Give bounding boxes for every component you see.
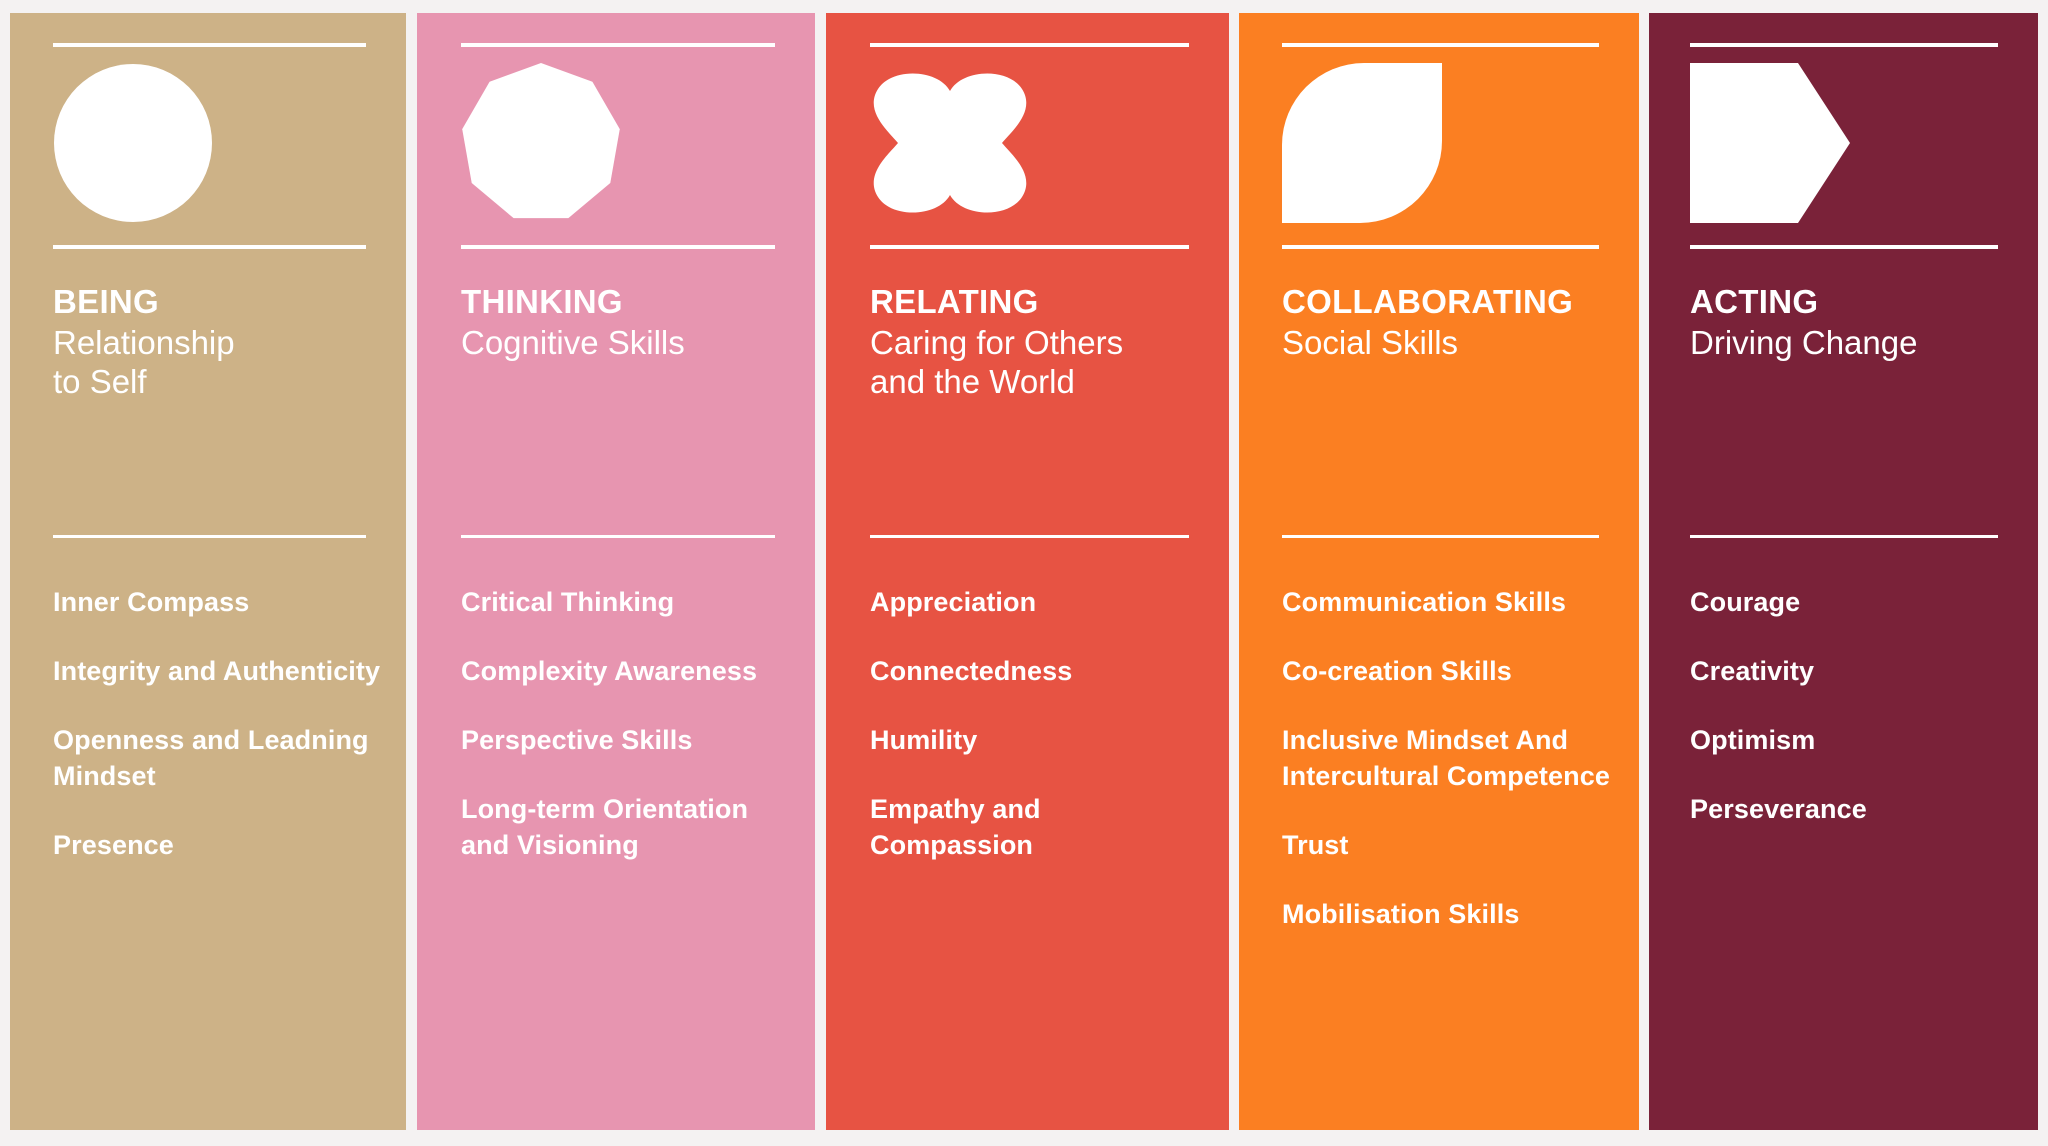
column-collaborating: COLLABORATINGSocial SkillsCommunication …	[1239, 13, 1639, 1130]
skill-item: Perseverance	[1690, 792, 2014, 828]
column-thinking: THINKINGCognitive SkillsCritical Thinkin…	[417, 13, 815, 1130]
category-subtitle: Cognitive Skills	[461, 324, 775, 363]
category-heading: BEINGRelationshipto Self	[53, 283, 366, 402]
divider-top	[53, 43, 366, 47]
skill-item: Courage	[1690, 585, 2014, 621]
icon-slot	[461, 63, 775, 229]
skill-item: Perspective Skills	[461, 723, 791, 759]
icon-slot	[870, 63, 1189, 229]
idg-framework-board: BEINGRelationshipto SelfInner CompassInt…	[0, 0, 2048, 1146]
divider-skills	[1282, 535, 1599, 538]
divider-top	[1282, 43, 1599, 47]
skills-list: Inner CompassIntegrity and AuthenticityO…	[53, 585, 382, 897]
skill-item: Optimism	[1690, 723, 2014, 759]
skill-item: Empathy and Compassion	[870, 792, 1205, 864]
category-subtitle: Social Skills	[1282, 324, 1599, 363]
category-subtitle: Driving Change	[1690, 324, 1998, 363]
category-subtitle: Relationshipto Self	[53, 324, 366, 402]
divider-skills	[53, 535, 366, 538]
divider-top	[870, 43, 1189, 47]
skill-item: Inclusive Mindset And Intercultural Comp…	[1282, 723, 1615, 795]
skill-item: Communication Skills	[1282, 585, 1615, 621]
divider-middle	[53, 245, 366, 249]
category-subtitle-line: Driving Change	[1690, 324, 1998, 363]
divider-top	[461, 43, 775, 47]
skill-item: Co-creation Skills	[1282, 654, 1615, 690]
skill-item: Connectedness	[870, 654, 1205, 690]
skills-list: AppreciationConnectednessHumilityEmpathy…	[870, 585, 1205, 897]
category-subtitle-line: Social Skills	[1282, 324, 1599, 363]
skill-item: Humility	[870, 723, 1205, 759]
category-subtitle-line: Relationship	[53, 324, 366, 363]
category-name: BEING	[53, 283, 366, 322]
skill-item: Trust	[1282, 828, 1615, 864]
column-acting: ACTINGDriving ChangeCourageCreativityOpt…	[1649, 13, 2038, 1130]
divider-skills	[1690, 535, 1998, 538]
skills-list: Communication SkillsCo-creation SkillsIn…	[1282, 585, 1615, 965]
column-relating: RELATINGCaring for Othersand the WorldAp…	[826, 13, 1229, 1130]
skill-item: Long-term Orientation and Visioning	[461, 792, 791, 864]
skill-item: Critical Thinking	[461, 585, 791, 621]
divider-middle	[1282, 245, 1599, 249]
divider-middle	[461, 245, 775, 249]
skill-item: Integrity and Authenticity	[53, 654, 382, 690]
category-heading: RELATINGCaring for Othersand the World	[870, 283, 1189, 402]
category-name: THINKING	[461, 283, 775, 322]
category-heading: COLLABORATINGSocial Skills	[1282, 283, 1599, 363]
category-subtitle-line: to Self	[53, 363, 366, 402]
divider-skills	[870, 535, 1189, 538]
quatrefoil-icon	[870, 63, 1030, 223]
category-subtitle-line: Caring for Others	[870, 324, 1189, 363]
category-heading: ACTINGDriving Change	[1690, 283, 1998, 363]
skill-item: Appreciation	[870, 585, 1205, 621]
category-heading: THINKINGCognitive Skills	[461, 283, 775, 363]
category-subtitle-line: and the World	[870, 363, 1189, 402]
circle-icon	[53, 63, 213, 223]
skill-item: Inner Compass	[53, 585, 382, 621]
column-being: BEINGRelationshipto SelfInner CompassInt…	[10, 13, 406, 1130]
skills-list: Critical ThinkingComplexity AwarenessPer…	[461, 585, 791, 897]
skill-item: Mobilisation Skills	[1282, 897, 1615, 933]
category-name: ACTING	[1690, 283, 1998, 322]
category-subtitle: Caring for Othersand the World	[870, 324, 1189, 402]
skill-item: Complexity Awareness	[461, 654, 791, 690]
divider-top	[1690, 43, 1998, 47]
divider-middle	[1690, 245, 1998, 249]
category-name: COLLABORATING	[1282, 283, 1599, 322]
skills-list: CourageCreativityOptimismPerseverance	[1690, 585, 2014, 861]
leaf-icon	[1282, 63, 1442, 223]
skill-item: Openness and Leadning Mindset	[53, 723, 382, 795]
category-name: RELATING	[870, 283, 1189, 322]
icon-slot	[1282, 63, 1599, 229]
icon-slot	[1690, 63, 1998, 229]
divider-middle	[870, 245, 1189, 249]
category-subtitle-line: Cognitive Skills	[461, 324, 775, 363]
skill-item: Creativity	[1690, 654, 2014, 690]
nonagon-icon	[461, 63, 621, 223]
skill-item: Presence	[53, 828, 382, 864]
divider-skills	[461, 535, 775, 538]
icon-slot	[53, 63, 366, 229]
arrow-right-icon	[1690, 63, 1850, 223]
